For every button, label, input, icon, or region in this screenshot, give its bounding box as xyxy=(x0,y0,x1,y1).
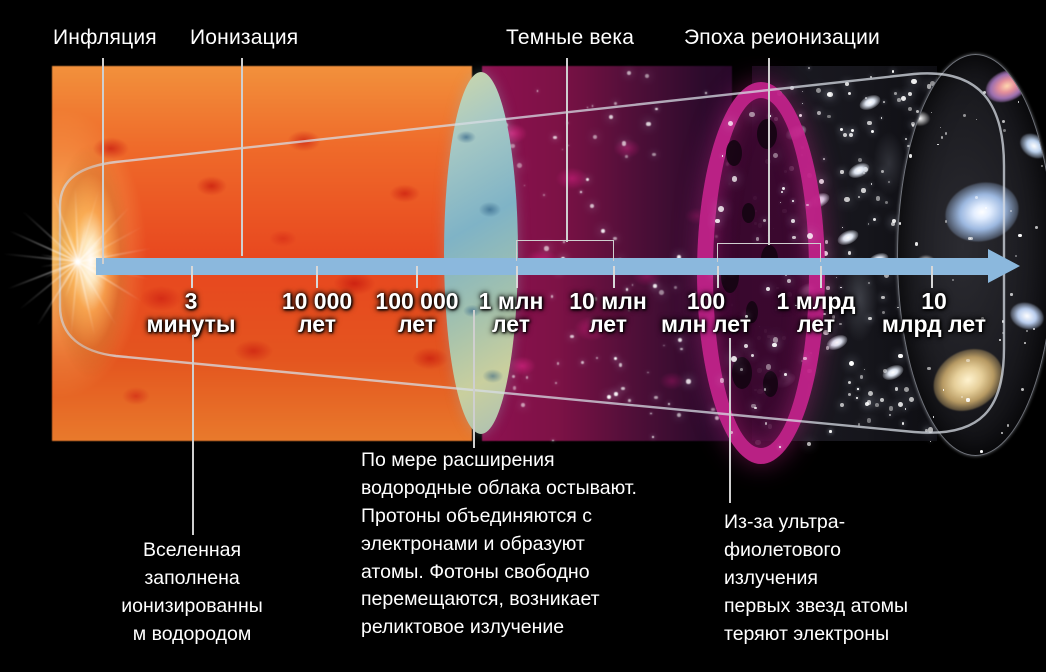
star xyxy=(909,397,914,402)
star xyxy=(848,381,851,384)
galaxy xyxy=(910,111,930,126)
star xyxy=(596,357,598,359)
star xyxy=(963,114,966,117)
star xyxy=(614,357,617,360)
star xyxy=(592,105,593,106)
star xyxy=(555,382,557,384)
star xyxy=(674,286,677,289)
callout-right-line: фиолетового xyxy=(724,537,1024,565)
time-tick-label-unit: млрд лет xyxy=(854,313,1014,336)
star xyxy=(645,74,650,79)
star xyxy=(856,397,857,398)
star xyxy=(526,376,529,379)
star xyxy=(524,185,525,186)
star xyxy=(587,107,588,108)
callout-middle-line: электронами и образуют xyxy=(361,531,691,559)
star xyxy=(802,91,803,92)
leader-line-inflation xyxy=(102,58,104,264)
star xyxy=(593,135,597,139)
star xyxy=(873,218,876,221)
star xyxy=(894,92,897,95)
star xyxy=(908,92,912,96)
star xyxy=(870,76,872,78)
star xyxy=(751,354,754,357)
star xyxy=(680,348,682,350)
star xyxy=(980,450,983,453)
star xyxy=(858,423,861,426)
star xyxy=(848,393,851,396)
star xyxy=(590,204,594,208)
star xyxy=(537,90,539,92)
star xyxy=(888,181,890,183)
star xyxy=(781,191,784,194)
star xyxy=(790,86,794,90)
star xyxy=(999,339,1001,341)
leader-line-left-callout xyxy=(192,335,194,535)
star xyxy=(621,387,624,390)
time-tick-label: 10млрд лет xyxy=(854,290,1014,336)
star xyxy=(909,154,913,158)
star xyxy=(904,387,909,392)
star xyxy=(792,200,794,202)
star xyxy=(892,219,897,224)
leader-line-dark-ages xyxy=(566,58,568,242)
callout-left-line: ионизированны xyxy=(72,593,312,621)
star xyxy=(845,82,849,86)
star xyxy=(940,127,941,128)
star xyxy=(763,219,766,222)
star xyxy=(827,115,830,118)
callout-right-line: теряют электроны xyxy=(724,621,1024,649)
star xyxy=(840,128,843,131)
galaxy xyxy=(922,337,1013,423)
star xyxy=(858,196,860,198)
star xyxy=(898,354,903,359)
star xyxy=(744,344,748,348)
star xyxy=(609,115,613,119)
proto-galaxy xyxy=(880,362,905,383)
star xyxy=(705,92,707,94)
star xyxy=(740,368,743,371)
star xyxy=(756,237,760,241)
time-tick xyxy=(820,266,822,288)
star xyxy=(889,406,894,411)
callout-right-line: первых звезд атомы xyxy=(724,593,1024,621)
star xyxy=(876,196,881,201)
star xyxy=(1024,342,1026,344)
big-bang-ray xyxy=(77,262,95,335)
star xyxy=(792,236,795,239)
star xyxy=(754,407,757,410)
star xyxy=(764,388,767,391)
star xyxy=(718,206,724,212)
callout-middle-line: атомы. Фотоны свободно xyxy=(361,559,691,587)
star xyxy=(843,133,847,137)
star xyxy=(722,155,724,157)
star xyxy=(650,413,651,414)
star xyxy=(902,422,904,424)
star xyxy=(840,403,844,407)
star xyxy=(945,132,948,135)
star xyxy=(652,153,655,156)
star xyxy=(773,337,779,343)
star xyxy=(668,403,670,405)
star xyxy=(513,386,517,390)
star xyxy=(857,388,858,389)
star xyxy=(860,375,864,379)
star xyxy=(861,188,865,192)
star xyxy=(1030,432,1031,433)
star xyxy=(632,284,634,286)
star xyxy=(807,442,812,447)
star xyxy=(849,133,853,137)
star xyxy=(927,367,931,371)
star xyxy=(905,138,907,140)
star xyxy=(875,403,879,407)
time-axis-arrowhead xyxy=(988,249,1020,283)
star xyxy=(720,378,725,383)
star xyxy=(883,101,885,103)
galaxy xyxy=(1015,128,1046,163)
bracket-reionization xyxy=(717,243,821,262)
callout-left-line: Вселенная xyxy=(72,537,312,565)
star xyxy=(952,279,954,281)
time-tick xyxy=(516,266,518,288)
star xyxy=(766,364,772,370)
star xyxy=(581,361,584,364)
star xyxy=(892,70,895,73)
star xyxy=(1018,234,1021,237)
proto-galaxy xyxy=(858,92,883,113)
star xyxy=(663,345,665,347)
leader-line-reionization xyxy=(768,58,770,245)
star xyxy=(867,418,872,423)
star xyxy=(844,197,850,203)
star xyxy=(1041,69,1042,70)
star xyxy=(941,136,944,139)
star xyxy=(889,414,891,416)
cosmic-timeline-figure: 3минуты10 000лет100 000лет1 млнлет10 млн… xyxy=(0,0,1046,672)
callout-left-line: заполнена xyxy=(72,565,312,593)
star xyxy=(731,356,737,362)
star xyxy=(961,396,963,398)
star xyxy=(1002,120,1005,123)
star xyxy=(1010,210,1012,212)
proto-galaxy xyxy=(835,227,860,248)
star xyxy=(607,395,612,400)
star xyxy=(817,111,821,115)
star xyxy=(652,436,654,438)
star xyxy=(807,233,813,239)
star xyxy=(803,357,806,360)
star xyxy=(728,121,733,126)
star xyxy=(628,399,631,402)
star xyxy=(521,403,525,407)
star xyxy=(1021,388,1024,391)
star xyxy=(966,398,969,401)
star xyxy=(871,130,874,133)
star xyxy=(895,387,899,391)
star xyxy=(765,422,768,425)
bubble-void xyxy=(726,140,742,166)
star xyxy=(867,121,871,125)
star xyxy=(933,416,935,418)
era-label-inflation: Инфляция xyxy=(53,26,157,51)
star xyxy=(849,361,854,366)
time-tick xyxy=(316,266,318,288)
star xyxy=(827,92,832,97)
star xyxy=(791,219,795,223)
star xyxy=(614,102,617,105)
star xyxy=(1003,129,1006,132)
cmb-surface-disc xyxy=(444,72,518,434)
star xyxy=(851,129,854,132)
star xyxy=(647,372,649,374)
star xyxy=(908,107,912,111)
bubble-void xyxy=(763,371,778,397)
star xyxy=(976,119,977,120)
callout-right-line: Из-за ультра- xyxy=(724,509,1024,537)
star xyxy=(614,392,618,396)
star xyxy=(871,183,873,185)
star xyxy=(915,242,918,245)
star xyxy=(829,430,831,432)
era-label-ionization: Ионизация xyxy=(190,26,298,51)
star xyxy=(848,92,852,96)
callout-left-line: м водородом xyxy=(72,621,312,649)
star xyxy=(677,413,681,417)
leader-line-right-callout xyxy=(729,338,731,503)
star xyxy=(930,441,932,443)
leader-line-ionization xyxy=(241,58,243,256)
star xyxy=(654,396,657,399)
star xyxy=(901,96,906,101)
star xyxy=(619,363,623,367)
galaxy xyxy=(939,175,1025,249)
star xyxy=(557,362,560,365)
star xyxy=(899,222,901,224)
star xyxy=(580,191,582,193)
star xyxy=(937,144,939,146)
star xyxy=(772,343,776,347)
star xyxy=(898,402,903,407)
time-tick-label-value: 10 xyxy=(854,290,1014,313)
star xyxy=(868,282,870,284)
callout-middle-line: водородные облака остывают. xyxy=(361,475,691,503)
star xyxy=(1026,330,1027,331)
star xyxy=(931,112,932,113)
bracket-dark-ages xyxy=(516,240,614,261)
star xyxy=(552,440,554,442)
star xyxy=(784,373,787,376)
star xyxy=(543,194,545,196)
star xyxy=(773,153,778,158)
callout-right: Из-за ультра-фиолетовогоизлученияпервых … xyxy=(724,509,1024,648)
star xyxy=(867,400,871,404)
star xyxy=(868,391,873,396)
leader-line-middle-callout xyxy=(473,310,475,448)
star xyxy=(655,108,657,110)
star xyxy=(1041,165,1043,167)
star xyxy=(806,204,808,206)
bubble-void xyxy=(732,357,752,389)
time-tick xyxy=(717,266,719,288)
star xyxy=(627,71,631,75)
star xyxy=(880,398,884,402)
star xyxy=(799,114,802,117)
star xyxy=(1035,226,1038,229)
callout-middle-line: реликтовое излучение xyxy=(361,614,691,642)
time-tick xyxy=(931,266,933,288)
star xyxy=(1037,423,1038,424)
star xyxy=(622,141,626,145)
star xyxy=(825,240,829,244)
star xyxy=(780,202,781,203)
callout-middle-line: По мере расширения xyxy=(361,447,691,475)
star xyxy=(553,136,556,139)
star xyxy=(512,375,516,379)
star xyxy=(625,155,628,158)
star xyxy=(1001,432,1003,434)
star xyxy=(966,359,969,362)
star xyxy=(568,145,569,146)
time-tick xyxy=(191,266,193,288)
star xyxy=(782,187,785,190)
present-day-galaxies-disc xyxy=(897,54,1046,456)
star xyxy=(808,67,810,69)
star xyxy=(819,179,824,184)
star xyxy=(917,69,919,71)
galaxy xyxy=(981,64,1033,108)
star xyxy=(816,88,822,94)
star xyxy=(686,379,690,383)
star xyxy=(842,227,843,228)
era-label-dark-ages: Темные века xyxy=(506,26,634,51)
star xyxy=(823,158,825,160)
star xyxy=(517,163,522,168)
star xyxy=(601,229,605,233)
star xyxy=(646,122,651,127)
star xyxy=(1007,424,1009,426)
time-tick xyxy=(613,266,615,288)
star xyxy=(928,427,933,432)
star xyxy=(678,338,682,342)
star xyxy=(881,170,884,173)
callout-middle-line: перемещаются, возникает xyxy=(361,586,691,614)
proto-galaxy xyxy=(846,160,871,181)
star xyxy=(928,84,930,86)
star xyxy=(858,158,862,162)
star xyxy=(885,201,888,204)
star xyxy=(911,79,916,84)
star xyxy=(711,408,715,412)
callout-middle: По мере расширенияводородные облака осты… xyxy=(361,447,691,642)
star xyxy=(779,446,781,448)
star xyxy=(715,219,719,223)
star xyxy=(1033,328,1035,330)
star xyxy=(586,178,589,181)
star xyxy=(1018,101,1020,103)
star xyxy=(653,284,657,288)
star xyxy=(905,408,907,410)
star xyxy=(562,149,564,151)
star xyxy=(749,112,755,118)
time-tick xyxy=(416,266,418,288)
star xyxy=(732,176,737,181)
bubble-void xyxy=(742,203,755,223)
star xyxy=(868,223,869,224)
star xyxy=(970,237,973,240)
callout-middle-line: Протоны объединяются с xyxy=(361,503,691,531)
star xyxy=(848,251,851,254)
star xyxy=(881,117,882,118)
era-label-reionization: Эпоха реионизации xyxy=(684,26,880,51)
callout-right-line: излучения xyxy=(724,565,1024,593)
star xyxy=(840,170,843,173)
star xyxy=(836,277,837,278)
star xyxy=(787,279,791,283)
star xyxy=(939,69,941,71)
star xyxy=(864,369,865,370)
callout-left: Вселеннаязаполненаионизированным водород… xyxy=(72,537,312,649)
